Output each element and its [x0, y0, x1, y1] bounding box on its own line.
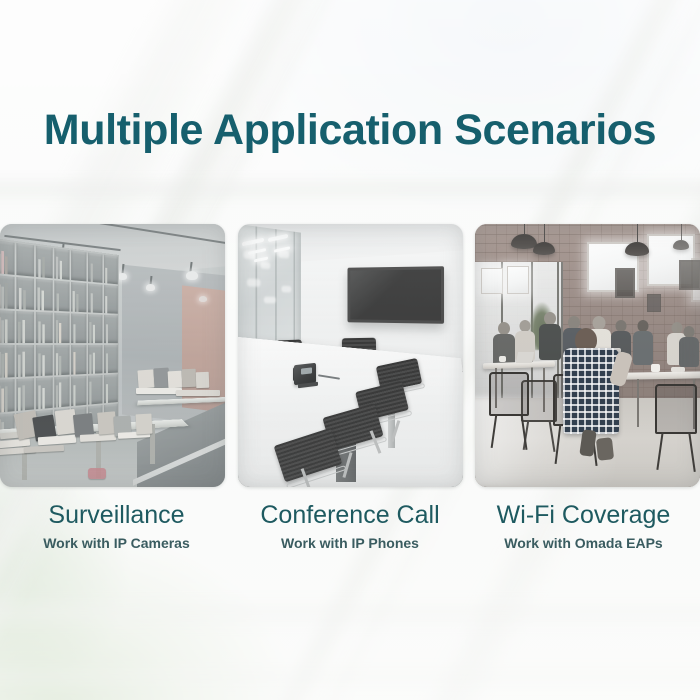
person [539, 312, 561, 360]
wall-frame [679, 260, 700, 290]
cafe-chair [521, 380, 557, 422]
plaid-dress [563, 348, 619, 434]
person [679, 326, 699, 366]
coffee-cup [651, 364, 660, 372]
caption-subtitle: Work with IP Phones [234, 535, 467, 552]
scenario-card-row [0, 224, 700, 488]
page-title: Multiple Application Scenarios [0, 104, 700, 156]
wall-mounted-display [347, 266, 444, 324]
caption-title: Conference Call [234, 500, 467, 530]
scenario-card-wifi-coverage[interactable] [475, 224, 700, 487]
wall-frame [615, 268, 635, 298]
pendant-lamp [625, 224, 649, 264]
caption-conference-call: Conference Call Work with IP Phones [234, 500, 467, 552]
bookstore-library-photo [0, 224, 225, 487]
wall-fixture [647, 294, 661, 312]
scenario-card-conference-call[interactable] [238, 224, 463, 487]
laptop [516, 352, 534, 363]
conference-room-photo [238, 224, 463, 487]
caption-title: Wi-Fi Coverage [467, 500, 700, 530]
window [507, 266, 529, 294]
cafe-chair [655, 384, 697, 434]
pendant-lamp [533, 224, 555, 262]
application-scenarios-banner: Multiple Application Scenarios [0, 0, 700, 700]
caption-subtitle: Work with IP Cameras [0, 535, 233, 552]
person [633, 320, 653, 364]
plate [671, 367, 685, 372]
caption-wifi-coverage: Wi-Fi Coverage Work with Omada EAPs [467, 500, 700, 552]
caption-title: Surveillance [0, 500, 233, 530]
pendant-lamp [673, 224, 689, 258]
scenario-caption-row: Surveillance Work with IP Cameras Confer… [0, 500, 700, 552]
ip-desk-phone [294, 364, 316, 384]
caption-subtitle: Work with Omada EAPs [467, 535, 700, 552]
leg [596, 437, 614, 461]
cafe-coworking-photo [475, 224, 700, 487]
window [481, 268, 503, 294]
caption-surveillance: Surveillance Work with IP Cameras [0, 500, 233, 552]
coffee-cup [499, 356, 506, 362]
scenario-card-surveillance[interactable] [0, 224, 225, 487]
